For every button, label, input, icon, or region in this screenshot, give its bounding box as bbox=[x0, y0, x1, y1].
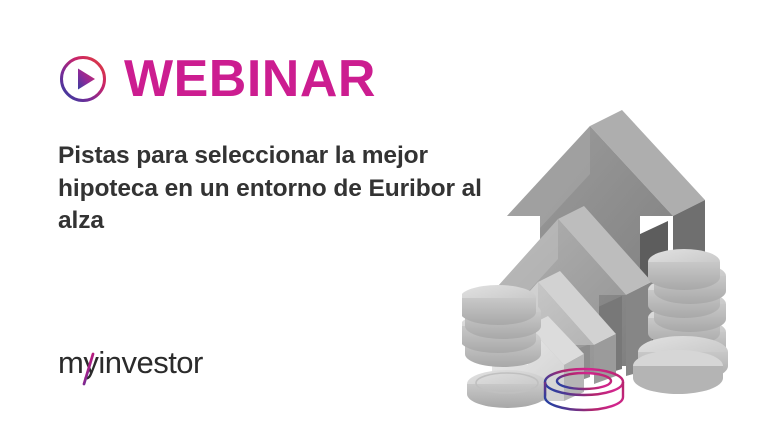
play-circle-icon bbox=[58, 54, 108, 104]
subtitle-text: Pistas para seleccionar la mejor hipotec… bbox=[58, 140, 498, 238]
coin-single-flat bbox=[467, 370, 547, 408]
text-content-block: WEBINAR Pistas para seleccionar la mejor… bbox=[58, 48, 488, 238]
logo-wordmark: myinvestor bbox=[58, 345, 203, 380]
coin-stack-left bbox=[462, 285, 541, 367]
page-title: WEBINAR bbox=[124, 53, 376, 105]
webinar-heading-row: WEBINAR bbox=[58, 48, 488, 110]
illustration-houses-coins bbox=[462, 104, 768, 432]
myinvestor-logo: myinvestor bbox=[58, 342, 228, 386]
webinar-slide: WEBINAR Pistas para seleccionar la mejor… bbox=[0, 0, 768, 432]
